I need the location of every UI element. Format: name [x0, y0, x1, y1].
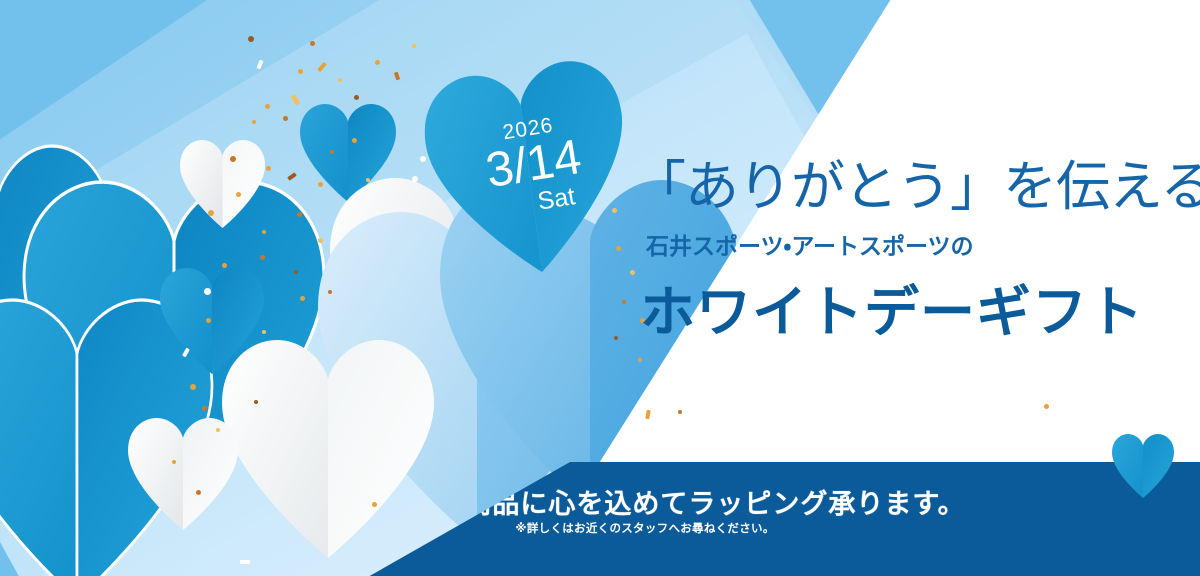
heart-date-blue — [430, 68, 628, 273]
headline: 「ありがとう」を伝える — [632, 160, 1192, 215]
heart-small-white-top — [180, 140, 265, 228]
subtitle: 石井スポーツ・アートスポーツの — [646, 227, 1192, 261]
white-day-gift-banner: 2026 3/14 Sat 「ありがとう」を伝える 石井スポーツ・アートスポーツ… — [0, 0, 1200, 576]
heart-white-center — [222, 340, 434, 558]
page-title: ホワイトデーギフト — [640, 267, 1192, 347]
heart-corner-small-blue — [1112, 434, 1174, 498]
copy-block: 「ありがとう」を伝える 石井スポーツ・アートスポーツの ホワイトデーギフト — [632, 160, 1192, 347]
heart-small-white-left — [128, 418, 238, 530]
